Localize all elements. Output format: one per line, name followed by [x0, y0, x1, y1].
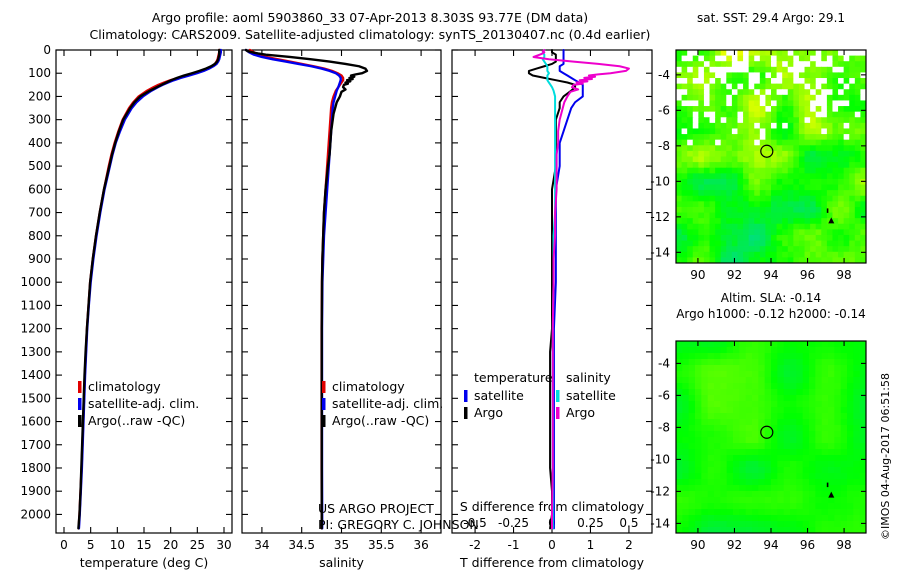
map-cell — [793, 241, 799, 247]
map-cell — [834, 497, 841, 504]
map-cell — [847, 389, 854, 396]
map-cell — [793, 72, 799, 78]
map-cell — [676, 218, 682, 224]
map-cell — [765, 252, 771, 258]
map-cell — [758, 479, 765, 486]
map-cell — [682, 117, 688, 123]
map-cell — [828, 347, 835, 354]
map-cell — [733, 407, 740, 414]
map-cell — [834, 341, 841, 348]
map-cell — [695, 473, 702, 480]
map-cell — [827, 145, 833, 151]
map-y-tick-label: -14 — [650, 245, 670, 259]
map-cell — [676, 95, 682, 101]
map-cell — [793, 145, 799, 151]
map-cell — [732, 112, 738, 118]
map-cell — [805, 128, 811, 134]
map-cell — [752, 419, 759, 426]
map-cell — [822, 449, 829, 456]
map-cell — [749, 157, 755, 163]
map-cell — [793, 252, 799, 258]
map-cell — [752, 497, 759, 504]
map-cell — [721, 95, 727, 101]
map-cell — [689, 497, 696, 504]
map-cell — [777, 61, 783, 67]
map-cell — [844, 89, 850, 95]
map-cell — [720, 503, 727, 510]
map-cell — [704, 168, 710, 174]
map-cell — [822, 431, 829, 438]
map-cell — [732, 229, 738, 235]
map-cell — [676, 50, 682, 56]
map-cell — [746, 455, 753, 462]
map-cell — [838, 112, 844, 118]
map-cell — [676, 419, 683, 426]
map-cell — [760, 123, 766, 129]
map-cell — [788, 106, 794, 112]
map-cell — [822, 473, 829, 480]
map-cell — [676, 521, 683, 528]
map-cell — [687, 78, 693, 84]
map-cell — [758, 353, 765, 360]
map-cell — [689, 503, 696, 510]
map-cell — [693, 241, 699, 247]
map-cell — [726, 185, 732, 191]
figure-canvas: Argo profile: aoml 5903860_33 07-Apr-201… — [0, 0, 900, 580]
map-cell — [715, 140, 721, 146]
map-cell — [771, 377, 778, 384]
map-cell — [676, 443, 683, 450]
map-cell — [810, 50, 816, 56]
map-cell — [689, 347, 696, 354]
series-satellite-adj-clim- — [246, 50, 341, 528]
map-cell — [727, 479, 734, 486]
map-cell — [816, 213, 822, 219]
map-cell — [810, 241, 816, 247]
map-cell — [760, 61, 766, 67]
map-cell — [727, 419, 734, 426]
map-cell — [726, 179, 732, 185]
map-cell — [715, 207, 721, 213]
map-cell — [721, 162, 727, 168]
map-cell — [834, 449, 841, 456]
map-cell — [749, 241, 755, 247]
map-cell — [715, 241, 721, 247]
map-cell — [693, 123, 699, 129]
map-cell — [720, 485, 727, 492]
map-cell — [689, 467, 696, 474]
map-cell — [793, 235, 799, 241]
map-cell — [765, 173, 771, 179]
map-cell — [708, 395, 715, 402]
map-cell — [693, 151, 699, 157]
map-cell — [832, 78, 838, 84]
map-cell — [838, 190, 844, 196]
map-cell — [689, 377, 696, 384]
map-cell — [754, 190, 760, 196]
map-cell — [693, 252, 699, 258]
map-cell — [743, 162, 749, 168]
map-cell — [720, 455, 727, 462]
legend-label: satellite-adj. clim. — [88, 396, 199, 411]
y-tick-label: 800 — [28, 229, 51, 243]
map-cell — [758, 383, 765, 390]
map-cell — [844, 190, 850, 196]
map-cell — [796, 359, 803, 366]
map-cell — [682, 431, 689, 438]
map-cell — [714, 431, 721, 438]
map-cell — [790, 347, 797, 354]
map-cell — [855, 151, 861, 157]
map-cell — [805, 241, 811, 247]
map-cell — [790, 503, 797, 510]
map-cell — [832, 106, 838, 112]
map-cell — [749, 162, 755, 168]
map-cell — [749, 173, 755, 179]
map-cell — [827, 157, 833, 163]
map-cell — [676, 84, 682, 90]
map-cell — [676, 56, 682, 62]
map-cell — [782, 56, 788, 62]
map-cell — [828, 479, 835, 486]
map-cell — [710, 235, 716, 241]
map-cell — [777, 515, 784, 522]
map-cell — [828, 467, 835, 474]
map-cell — [796, 521, 803, 528]
map-cell — [799, 229, 805, 235]
map-cell — [788, 252, 794, 258]
map-cell — [708, 353, 715, 360]
map-cell — [834, 467, 841, 474]
map-cell — [749, 123, 755, 129]
map-cell — [732, 78, 738, 84]
map-cell — [803, 377, 810, 384]
map-cell — [726, 157, 732, 163]
map-cell — [727, 449, 734, 456]
map-cell — [721, 201, 727, 207]
map-cell — [810, 140, 816, 146]
map-cell — [810, 151, 816, 157]
map-cell — [749, 117, 755, 123]
map-cell — [832, 112, 838, 118]
map-cell — [682, 72, 688, 78]
map-cell — [810, 213, 816, 219]
map-cell — [732, 218, 738, 224]
map-cell — [828, 455, 835, 462]
map-cell — [782, 89, 788, 95]
map-cell — [687, 190, 693, 196]
series-argo-raw-qc- — [78, 50, 219, 528]
map-cell — [793, 78, 799, 84]
map-cell — [720, 341, 727, 348]
map-cell — [739, 509, 746, 516]
map-cell — [777, 419, 784, 426]
map-cell — [838, 123, 844, 129]
map-cell — [720, 461, 727, 468]
map-cell — [777, 395, 784, 402]
map-cell — [746, 461, 753, 468]
footer-line-2: PI: GREGORY C. JOHNSON — [318, 517, 479, 532]
map-cell — [727, 455, 734, 462]
map-cell — [765, 106, 771, 112]
map-cell — [810, 218, 816, 224]
map-cell — [754, 246, 760, 252]
x-tick-label: -1 — [508, 538, 520, 552]
map-cell — [832, 196, 838, 202]
map-cell — [760, 241, 766, 247]
map-cell — [793, 106, 799, 112]
map-cell — [815, 491, 822, 498]
map-cell — [701, 443, 708, 450]
map-cell — [682, 413, 689, 420]
map-x-tick-label: 94 — [763, 268, 778, 282]
map-cell — [855, 72, 861, 78]
map-cell — [720, 413, 727, 420]
project-footer: US ARGO PROJECTPI: GREGORY C. JOHNSON — [318, 501, 479, 532]
map-cell — [790, 383, 797, 390]
map-cell — [793, 89, 799, 95]
map-cell — [771, 218, 777, 224]
map-cell — [749, 213, 755, 219]
map-cell — [720, 389, 727, 396]
map-cell — [749, 128, 755, 134]
map-cell — [827, 61, 833, 67]
map-cell — [805, 61, 811, 67]
map-cell — [743, 61, 749, 67]
map-cell — [790, 431, 797, 438]
map-cell — [682, 56, 688, 62]
map-cell — [727, 401, 734, 408]
map-cell — [701, 353, 708, 360]
map-cell — [790, 341, 797, 348]
map-cell — [720, 497, 727, 504]
map-cell — [821, 134, 827, 140]
map-cell — [844, 207, 850, 213]
map-cell — [737, 246, 743, 252]
map-cell — [796, 467, 803, 474]
map-cell — [708, 425, 715, 432]
map-cell — [816, 201, 822, 207]
x-tick-label: 2 — [625, 538, 633, 552]
map-cell — [799, 173, 805, 179]
reference-tick-marker — [827, 208, 829, 213]
map-cell — [849, 61, 855, 67]
map-cell — [758, 473, 765, 480]
map-cell — [714, 407, 721, 414]
map-cell — [720, 365, 727, 372]
map-cell — [760, 213, 766, 219]
map-cell — [676, 479, 683, 486]
map-cell — [698, 78, 704, 84]
map-cell — [765, 383, 772, 390]
map-cell — [793, 50, 799, 56]
y-tick-label: 700 — [28, 206, 51, 220]
map-cell — [695, 509, 702, 516]
map-cell — [689, 443, 696, 450]
map-cell — [822, 455, 829, 462]
map-cell — [708, 431, 715, 438]
legend-swatch — [322, 381, 326, 393]
map-cell — [737, 89, 743, 95]
map-cell — [782, 50, 788, 56]
map-cell — [790, 437, 797, 444]
map-cell — [682, 67, 688, 73]
map-cell — [832, 246, 838, 252]
map-cell — [715, 185, 721, 191]
map-cell — [849, 173, 855, 179]
map-cell — [760, 196, 766, 202]
map-cell — [698, 213, 704, 219]
map-cell — [726, 67, 732, 73]
map-cell — [816, 229, 822, 235]
map-cell — [689, 401, 696, 408]
map-cell — [752, 521, 759, 528]
map-cell — [849, 72, 855, 78]
map-cell — [849, 134, 855, 140]
map-cell — [855, 246, 861, 252]
map-cell — [704, 229, 710, 235]
map-cell — [746, 407, 753, 414]
map-cell — [746, 485, 753, 492]
map-cell — [844, 56, 850, 62]
map-cell — [832, 252, 838, 258]
map-cell — [828, 497, 835, 504]
map-cell — [821, 140, 827, 146]
map-cell — [743, 224, 749, 230]
map-cell — [760, 252, 766, 258]
map-cell — [777, 377, 784, 384]
map-cell — [765, 407, 772, 414]
map-cell — [710, 95, 716, 101]
map-cell — [760, 185, 766, 191]
map-cell — [771, 50, 777, 56]
map-cell — [784, 467, 791, 474]
map-cell — [782, 117, 788, 123]
map-cell — [737, 213, 743, 219]
map-cell — [739, 419, 746, 426]
map-cell — [708, 401, 715, 408]
map-cell — [822, 491, 829, 498]
map-cell — [721, 218, 727, 224]
map-cell — [693, 185, 699, 191]
map-cell — [855, 84, 861, 90]
map-cell — [737, 196, 743, 202]
map-cell — [687, 241, 693, 247]
map-cell — [676, 78, 682, 84]
map-cell — [828, 473, 835, 480]
map-cell — [841, 371, 848, 378]
map-cell — [676, 61, 682, 67]
map-cell — [698, 100, 704, 106]
map-cell — [844, 173, 850, 179]
map-cell — [838, 56, 844, 62]
map-cell — [743, 246, 749, 252]
map-cell — [816, 179, 822, 185]
map-cell — [782, 224, 788, 230]
map-cell — [771, 419, 778, 426]
map-cell — [777, 461, 784, 468]
map-cell — [803, 419, 810, 426]
map-cell — [693, 84, 699, 90]
map-cell — [743, 72, 749, 78]
legend-swatch — [78, 415, 82, 427]
map-cell — [782, 145, 788, 151]
map-cell — [803, 521, 810, 528]
map-cell — [726, 218, 732, 224]
map-cell — [676, 485, 683, 492]
map-cell — [834, 419, 841, 426]
map-x-tick-label: 96 — [800, 268, 815, 282]
map-cell — [737, 95, 743, 101]
map-cell — [689, 389, 696, 396]
map-cell — [715, 145, 721, 151]
map-cell — [832, 61, 838, 67]
map-cell — [760, 95, 766, 101]
map-cell — [793, 56, 799, 62]
map-cell — [727, 497, 734, 504]
map-cell — [682, 128, 688, 134]
map-cell — [805, 179, 811, 185]
map-cell — [689, 383, 696, 390]
map-cell — [746, 443, 753, 450]
map-cell — [720, 515, 727, 522]
map-cell — [695, 395, 702, 402]
map-cell — [793, 162, 799, 168]
map-cell — [790, 377, 797, 384]
map-cell — [698, 252, 704, 258]
map-cell — [758, 461, 765, 468]
map-cell — [695, 413, 702, 420]
map-cell — [855, 67, 861, 73]
map-cell — [782, 140, 788, 146]
map-cell — [743, 78, 749, 84]
map-cell — [844, 95, 850, 101]
map-cell — [727, 521, 734, 528]
map-cell — [821, 218, 827, 224]
map-cell — [689, 413, 696, 420]
map-cell — [816, 196, 822, 202]
map-cell — [799, 89, 805, 95]
map-cell — [844, 246, 850, 252]
map-cell — [771, 389, 778, 396]
map-cell — [695, 389, 702, 396]
map-cell — [676, 395, 683, 402]
map-cell — [739, 467, 746, 474]
map-cell — [827, 173, 833, 179]
y-tick-label: 1000 — [20, 275, 51, 289]
map-cell — [676, 67, 682, 73]
map-cell — [746, 359, 753, 366]
map-cell — [765, 521, 772, 528]
y-tick-label: 100 — [28, 66, 51, 80]
map-cell — [737, 134, 743, 140]
map-cell — [754, 78, 760, 84]
map-cell — [847, 407, 854, 414]
map-cell — [793, 218, 799, 224]
map-cell — [701, 479, 708, 486]
map-cell — [784, 521, 791, 528]
map-cell — [708, 467, 715, 474]
map-x-tick-label: 96 — [800, 538, 815, 552]
map-cell — [816, 157, 822, 163]
map-cell — [693, 196, 699, 202]
map-cell — [727, 365, 734, 372]
map-cell — [844, 196, 850, 202]
map-cell — [695, 359, 702, 366]
map-cell — [695, 371, 702, 378]
map-cell — [790, 413, 797, 420]
map-cell — [710, 185, 716, 191]
